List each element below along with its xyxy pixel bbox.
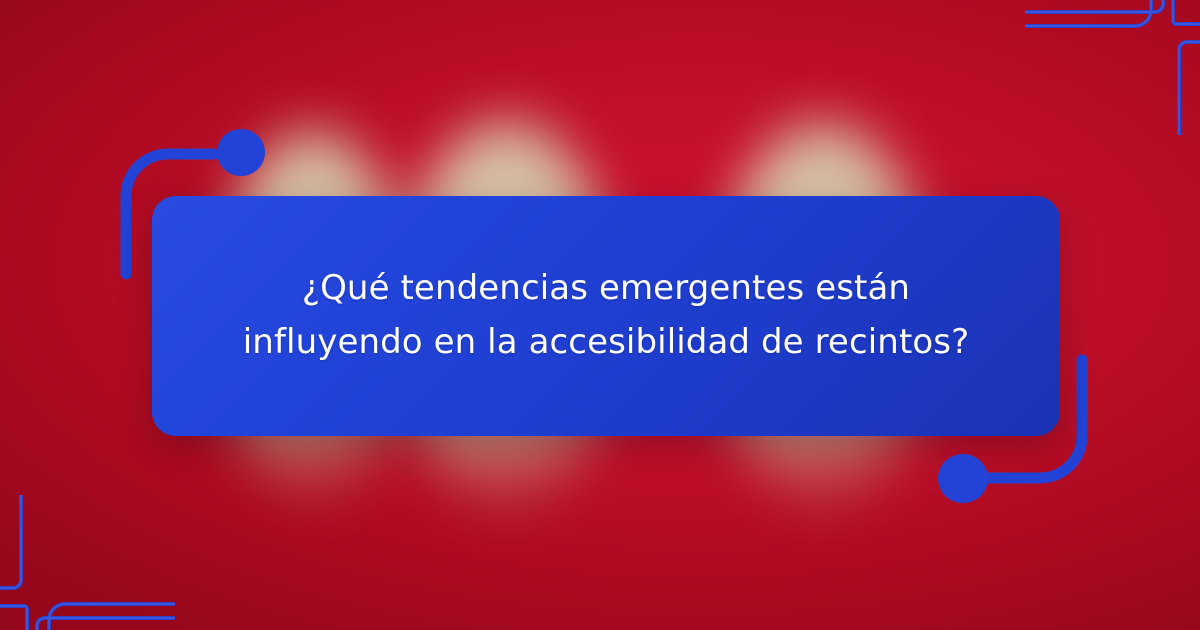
question-text: ¿Qué tendencias emergentes están influye…: [243, 262, 969, 369]
question-card: ¿Qué tendencias emergentes están influye…: [152, 196, 1060, 436]
question-card-canvas: ¿Qué tendencias emergentes están influye…: [0, 0, 1200, 630]
accent-dot-top-left: [217, 129, 265, 176]
accent-dot-bottom-right: [938, 454, 988, 503]
